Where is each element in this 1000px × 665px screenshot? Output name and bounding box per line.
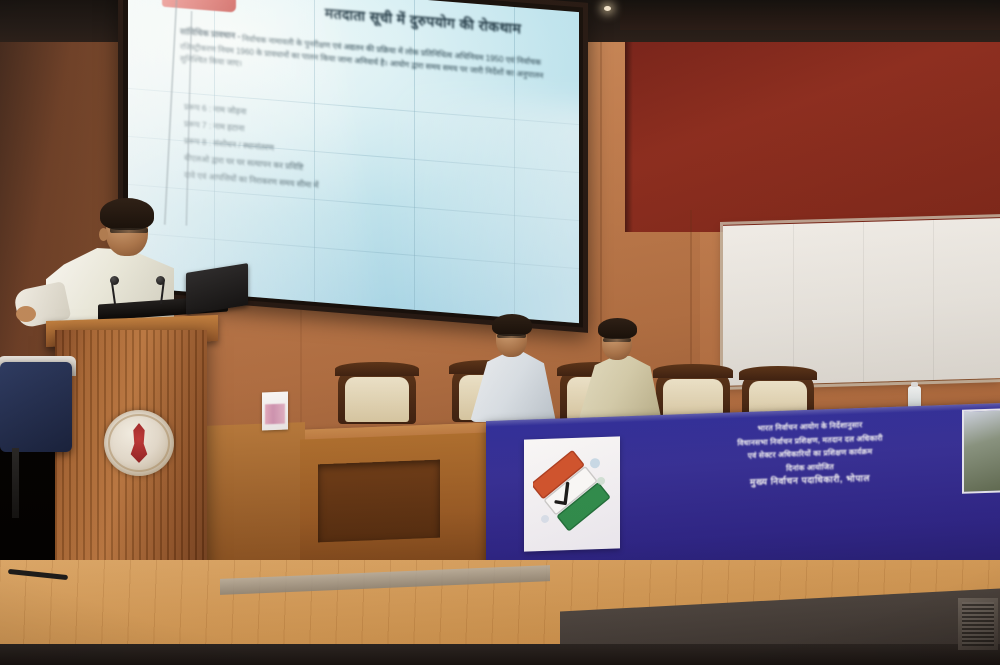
- ear: [99, 228, 108, 241]
- photo-scene: मतदाता सूची में दुरुपयोग की रोकथाम सांवि…: [0, 0, 1000, 665]
- madhya-pradesh-state-emblem: [104, 410, 174, 476]
- side-chair-leg: [12, 448, 19, 518]
- hair: [598, 318, 637, 339]
- floor-speaker: [958, 598, 998, 650]
- hair: [100, 198, 154, 230]
- chair-crest: [335, 362, 419, 376]
- stage-front-edge: [0, 644, 1000, 665]
- hair: [492, 314, 532, 336]
- microphone: [156, 276, 165, 285]
- tissue-box: [262, 392, 288, 431]
- chair-crest: [739, 366, 817, 380]
- tissue-box-artwork: [265, 404, 285, 425]
- spectacles: [603, 338, 631, 342]
- banner-photo-inset: [962, 408, 1000, 494]
- ceiling-light: [604, 6, 611, 11]
- eci-ballot-logo: [533, 446, 611, 543]
- chair-crest: [653, 364, 733, 378]
- blue-upholstered-chair: [0, 362, 72, 452]
- screen-glare: [399, 91, 579, 323]
- microphone: [110, 276, 119, 285]
- chair-cushion: [345, 377, 409, 422]
- hand: [16, 306, 36, 322]
- speaker-grill: [962, 602, 994, 646]
- chair: [338, 368, 416, 424]
- wall-white-board-frame: [720, 214, 1000, 390]
- eci-logo-card: [524, 436, 620, 551]
- banner-text-block: भारत निर्वाचन आयोग के निर्देशानुसार विधा…: [660, 415, 960, 493]
- water-bottle: [908, 386, 921, 408]
- wall-seam: [300, 300, 302, 430]
- water-bottle-cap: [911, 382, 918, 387]
- head-table-recess: [318, 460, 440, 543]
- head-table-left-section: [205, 422, 305, 571]
- wall-seam: [600, 20, 602, 420]
- ceiling-right: [620, 0, 1000, 30]
- spectacles: [497, 334, 526, 338]
- spectacles: [110, 228, 148, 233]
